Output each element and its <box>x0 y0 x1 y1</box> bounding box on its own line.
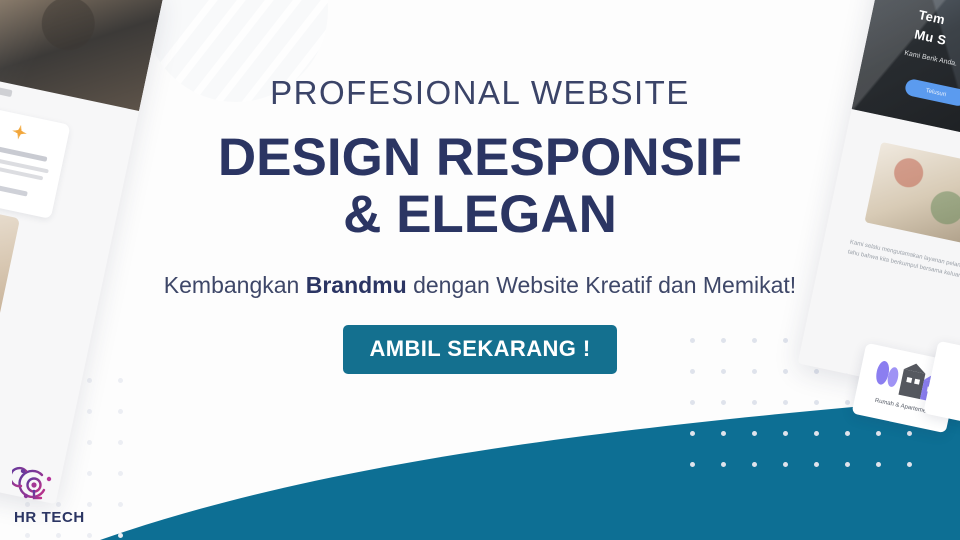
subheadline-part-2: dengan Website Kreatif dan Memikat! <box>407 272 797 298</box>
tech-circle-icon <box>12 465 56 507</box>
subheadline-bold: Brandmu <box>306 272 407 298</box>
banner-canvas: Tem Mu S Kami Berik Anda. Telusuri Kami … <box>0 0 960 540</box>
brand-name: HR TECH <box>14 509 132 526</box>
subheadline: Kembangkan Brandmu dengan Website Kreati… <box>164 269 796 302</box>
banner-content: PROFESIONAL WEBSITE DESIGN RESPONSIF & E… <box>0 0 960 540</box>
cta-button[interactable]: AMBIL SEKARANG ! <box>343 325 616 374</box>
headline-line-1: DESIGN RESPONSIF <box>218 128 742 187</box>
page-title: DESIGN RESPONSIF & ELEGAN <box>218 129 742 243</box>
eyebrow-text: PROFESIONAL WEBSITE <box>270 76 690 109</box>
brand-logo: HR TECH <box>12 465 132 526</box>
headline-line-2: & ELEGAN <box>218 186 742 243</box>
subheadline-part-1: Kembangkan <box>164 272 306 298</box>
